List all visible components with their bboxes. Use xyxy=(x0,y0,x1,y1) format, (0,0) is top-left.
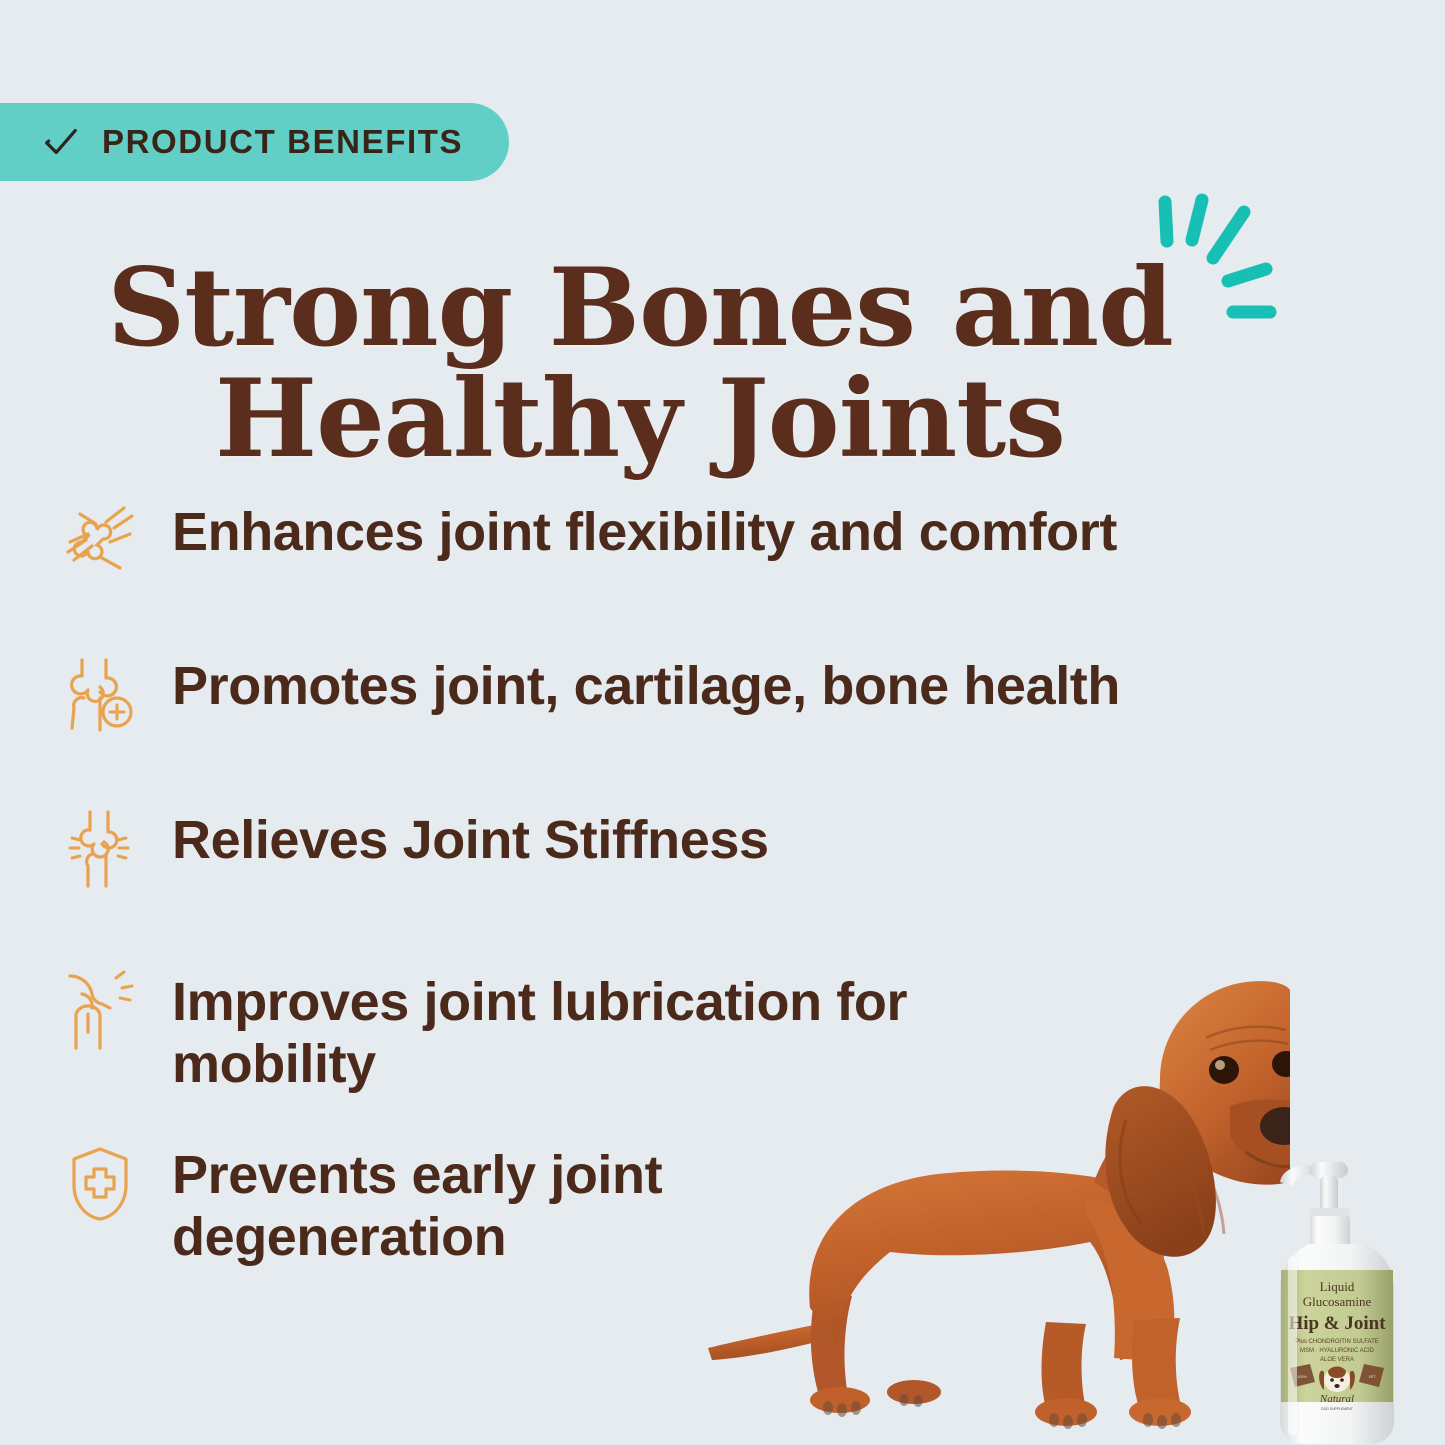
headline-line-2: Healthy Joints xyxy=(0,364,1280,475)
benefit-text: Promotes joint, cartilage, bone health xyxy=(172,654,1120,718)
dachshund-photo xyxy=(690,930,1290,1440)
page-title: Strong Bones and Healthy Joints xyxy=(0,253,1280,475)
benefit-item: Enhances joint flexibility and comfort xyxy=(62,500,1292,610)
joint-stiffness-relief-icon xyxy=(62,808,138,890)
shield-cross-icon xyxy=(62,1143,138,1225)
label-line-2: Glucosamine xyxy=(1303,1294,1372,1309)
product-benefits-banner: PRODUCT BENEFITS xyxy=(0,103,509,181)
seal-badge-left: 100% xyxy=(1297,1375,1307,1379)
benefit-item: Promotes joint, cartilage, bone health xyxy=(62,654,1292,764)
label-line-1: Liquid xyxy=(1320,1279,1355,1294)
svg-text:DOG SUPPLEMENT: DOG SUPPLEMENT xyxy=(1321,1407,1353,1411)
pump-bottle-photo: Liquid Glucosamine Hip & Joint Plus CHON… xyxy=(1262,1152,1412,1445)
joint-cartilage-bone-icon xyxy=(62,654,138,736)
label-title: Hip & Joint xyxy=(1288,1313,1386,1334)
benefit-text: Relieves Joint Stiffness xyxy=(172,808,769,872)
label-ingredient-1: Plus CHONDROITIN SULFATE xyxy=(1295,1339,1379,1345)
banner-label: PRODUCT BENEFITS xyxy=(102,123,463,161)
check-icon xyxy=(42,123,80,161)
joint-flexibility-icon xyxy=(62,500,138,582)
benefit-text: Enhances joint flexibility and comfort xyxy=(172,500,1117,564)
benefit-item: Relieves Joint Stiffness xyxy=(62,808,1292,918)
joint-lubrication-icon xyxy=(62,970,138,1052)
label-ingredient-3: ALOE VERA xyxy=(1320,1357,1354,1363)
seal-badge-right: VET xyxy=(1369,1375,1377,1379)
headline-line-1: Strong Bones and xyxy=(107,245,1172,371)
label-brand: Natural xyxy=(1319,1393,1354,1405)
infographic-page: PRODUCT BENEFITS Strong Bones and Health… xyxy=(0,0,1445,1445)
label-ingredient-2: MSM · HYALURONIC ACID xyxy=(1300,1348,1375,1354)
